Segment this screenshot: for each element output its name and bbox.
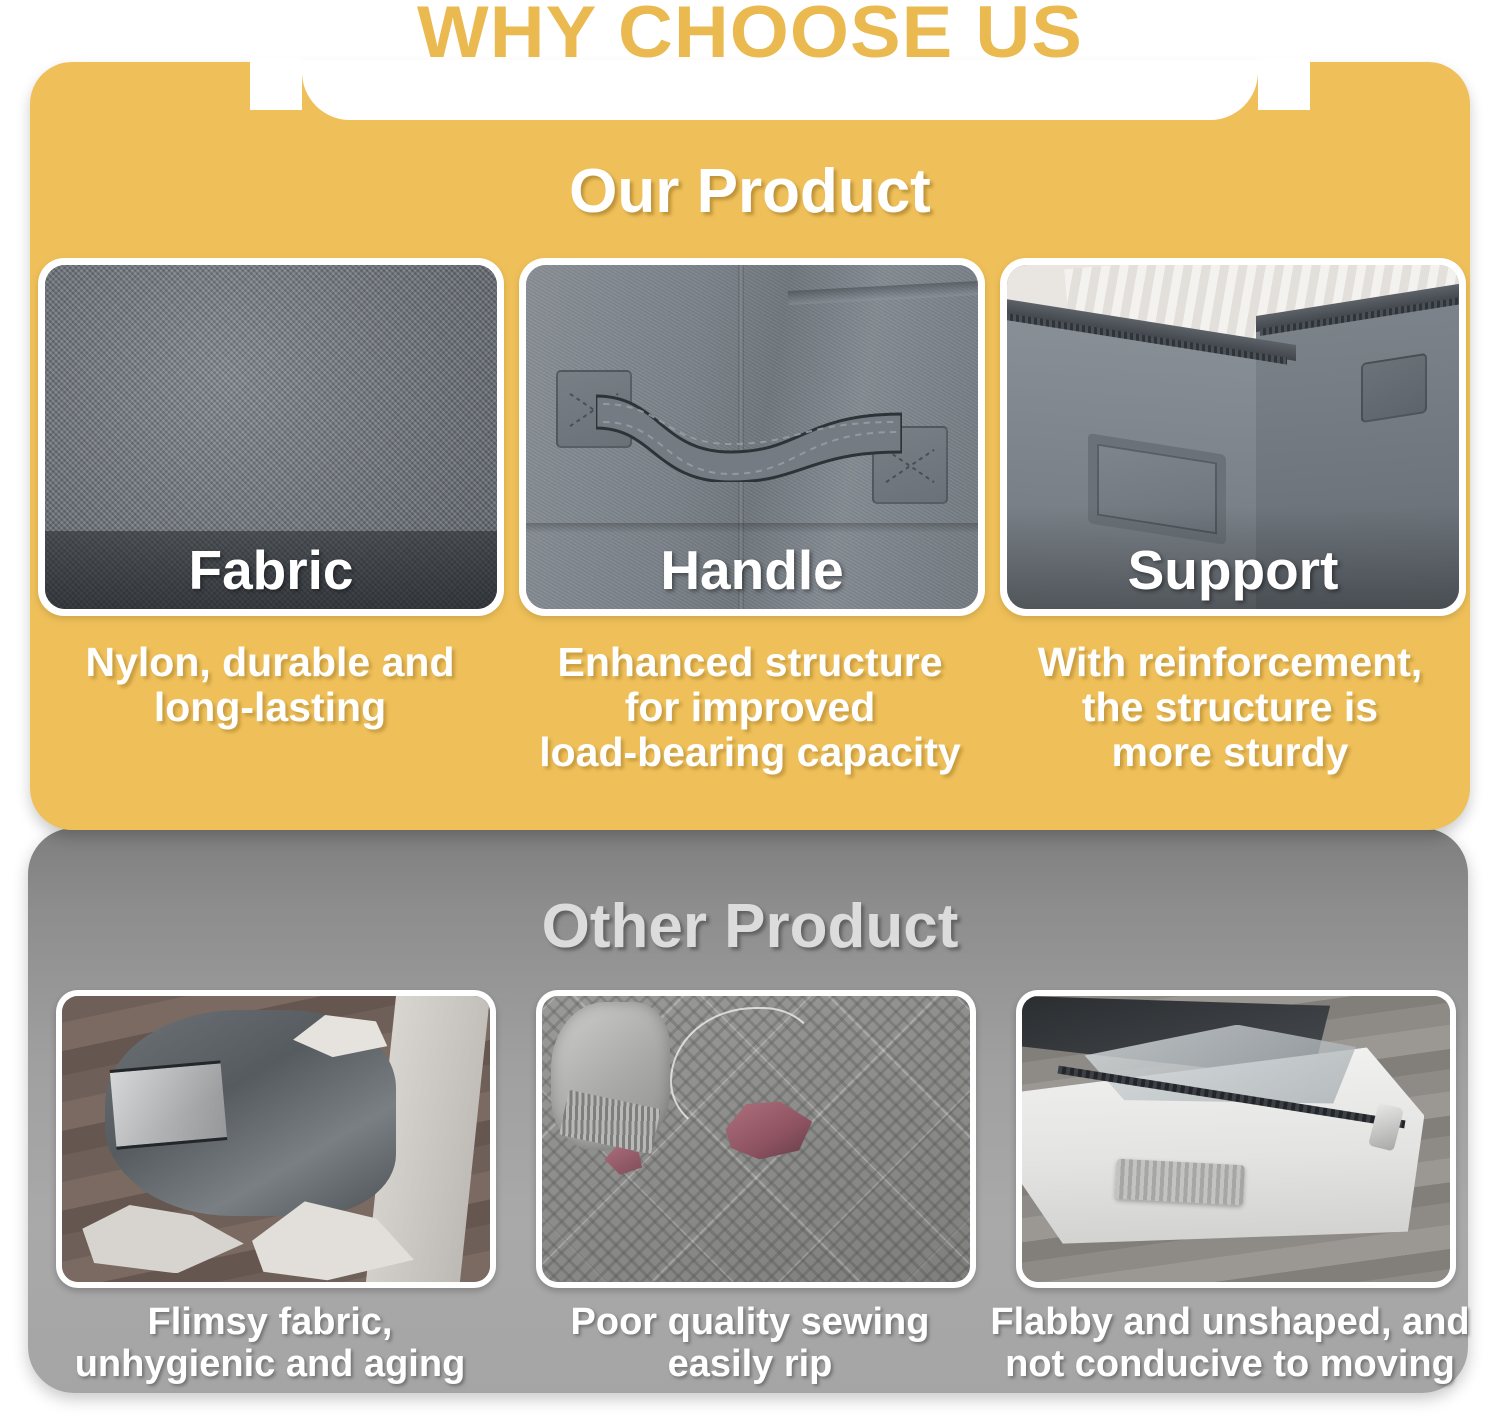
support-photo: Support: [1007, 265, 1459, 609]
other-card-flimsy-fabric[interactable]: [56, 990, 496, 1288]
collapsed-bag-photo: [1022, 996, 1450, 1282]
webbing-handle: [1115, 1159, 1245, 1206]
our-product-heading: Our Product: [0, 152, 1500, 232]
product-card-support[interactable]: Support: [1000, 258, 1466, 616]
caption-support: With reinforcement, the structure is mor…: [990, 640, 1470, 775]
product-card-fabric[interactable]: Fabric: [38, 258, 504, 616]
other-product-heading: Other Product: [0, 884, 1500, 970]
handle-photo: Handle: [526, 265, 978, 609]
side-handle: [1361, 353, 1427, 423]
strap-curve-icon: [596, 378, 902, 482]
fabric-photo: Fabric: [45, 265, 497, 609]
caption-flimsy-fabric: Flimsy fabric, unhygienic and aging: [30, 1302, 510, 1386]
product-card-handle[interactable]: Handle: [519, 258, 985, 616]
other-card-flabby-bag[interactable]: [1016, 990, 1456, 1288]
caption-fabric: Nylon, durable and long-lasting: [30, 640, 510, 775]
other-product-card-row: [56, 990, 1456, 1290]
caption-handle: Enhanced structure for improved load-bea…: [510, 640, 990, 775]
handle-strap: [562, 392, 942, 468]
torn-quilt-photo: [542, 996, 970, 1282]
ruined-bag-photo: [62, 996, 490, 1282]
our-product-caption-row: Nylon, durable and long-lasting Enhanced…: [30, 640, 1470, 775]
clear-window-panel: [110, 1060, 228, 1150]
product-card-label: Handle: [526, 531, 978, 609]
product-card-label: Support: [1007, 531, 1459, 609]
page-title: WHY CHOOSE US: [0, 0, 1500, 72]
caption-flabby-bag: Flabby and unshaped, and not conducive t…: [990, 1302, 1470, 1386]
caption-poor-sewing: Poor quality sewing easily rip: [510, 1302, 990, 1386]
product-card-label: Fabric: [45, 531, 497, 609]
our-product-card-row: Fabric Handle: [38, 258, 1466, 618]
other-card-poor-sewing[interactable]: [536, 990, 976, 1288]
other-product-caption-row: Flimsy fabric, unhygienic and aging Poor…: [30, 1302, 1470, 1386]
